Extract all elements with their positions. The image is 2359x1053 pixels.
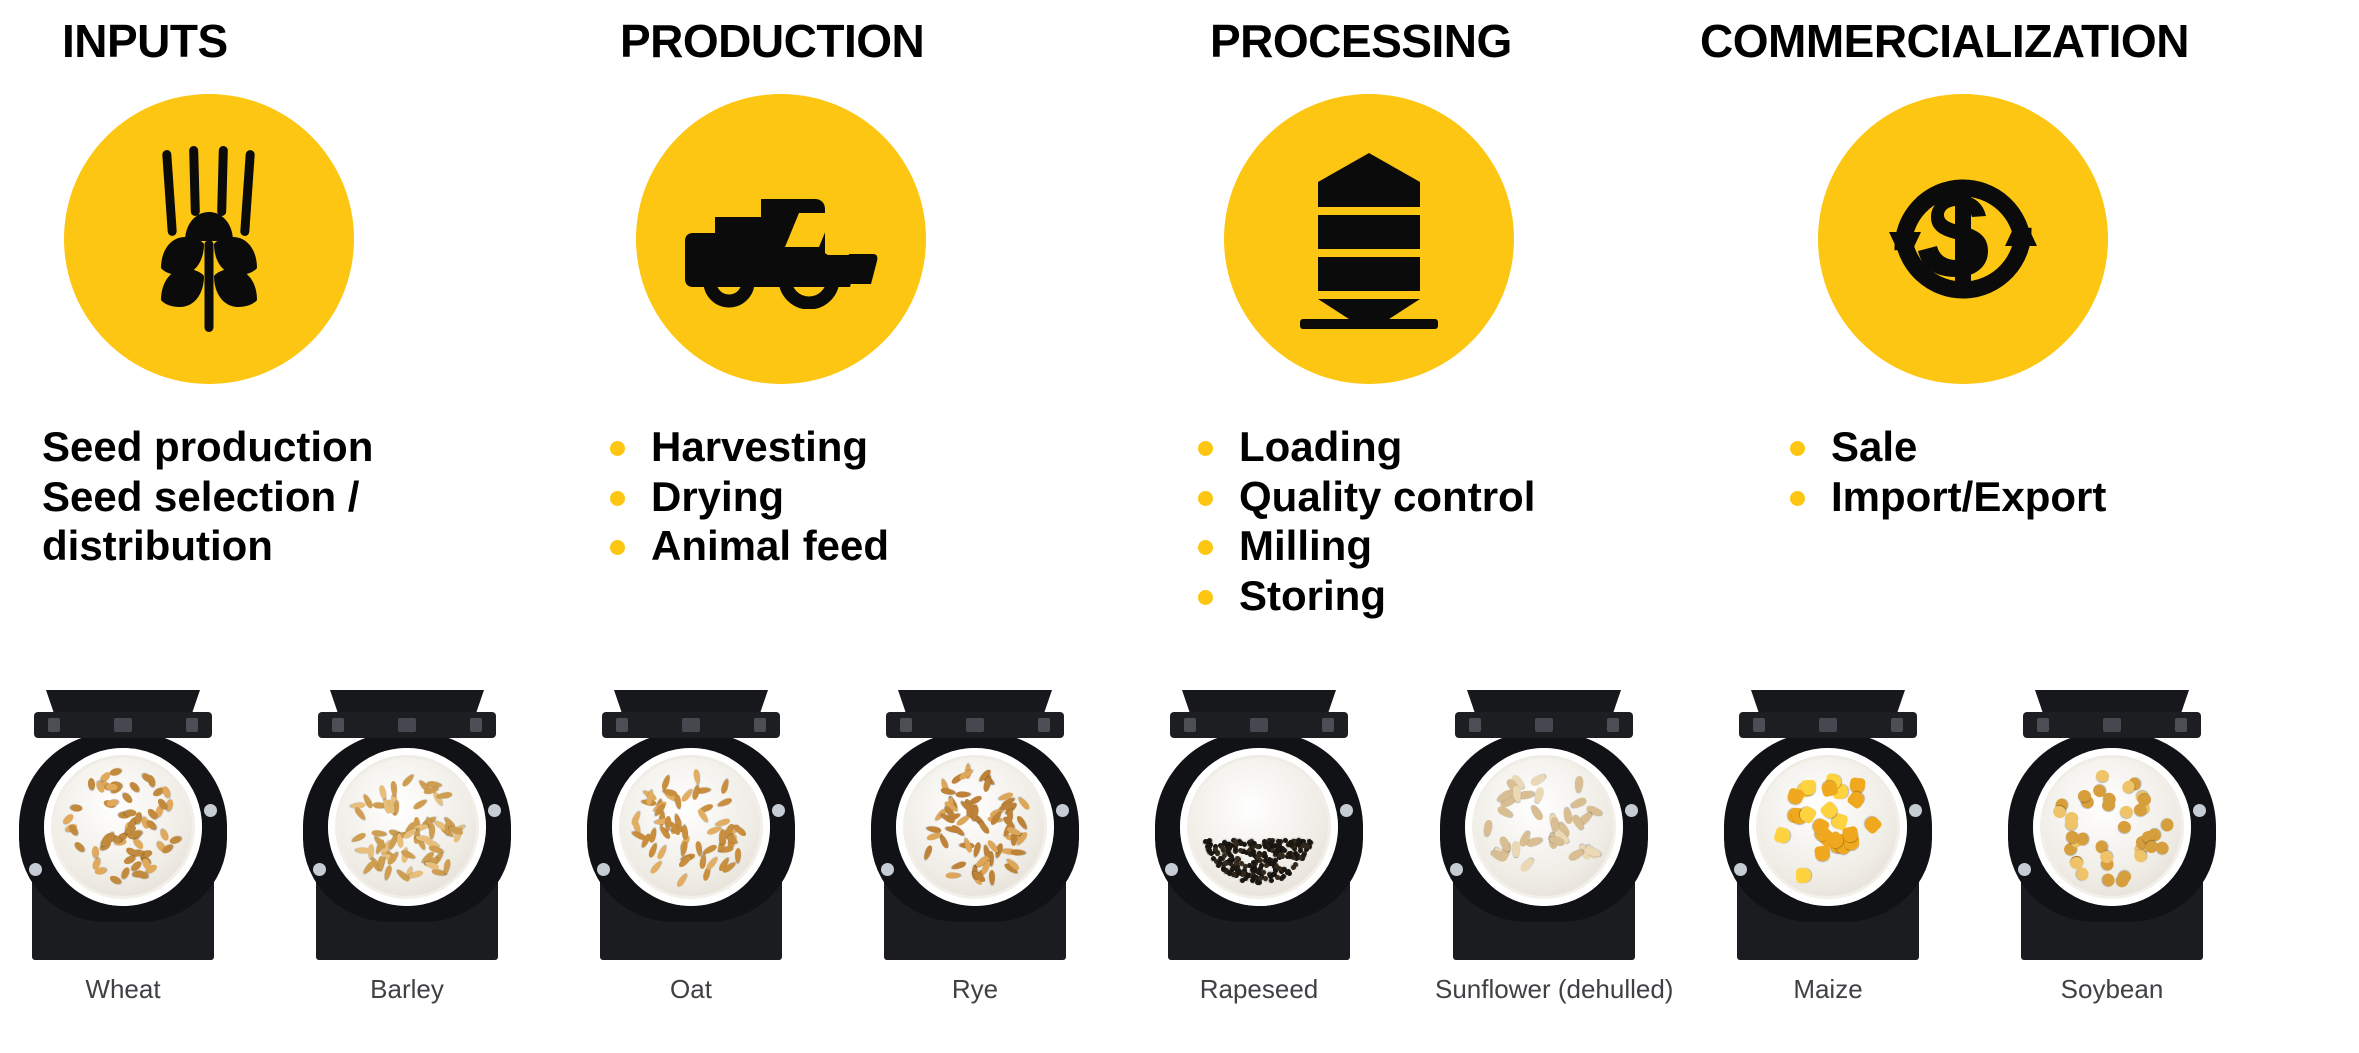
stage-icon-circle bbox=[636, 94, 926, 384]
grain-kernel bbox=[1281, 866, 1287, 872]
dollar-cycle-icon bbox=[1873, 154, 2053, 324]
infographic-page: INPUTS Seed productionSeed selection /di… bbox=[0, 0, 2359, 1053]
list-item-label: Sale bbox=[1831, 422, 1917, 472]
device-hinge bbox=[2023, 712, 2201, 738]
screw bbox=[2193, 804, 2206, 817]
screw bbox=[1165, 863, 1178, 876]
sample-label: Soybean bbox=[2003, 976, 2221, 1002]
sample-label: Sunflower (dehulled) bbox=[1435, 976, 1653, 1002]
grain-analyzer-device bbox=[866, 690, 1084, 960]
stage-bullet-list: HarvestingDryingAnimal feed bbox=[610, 422, 926, 571]
sample-dish bbox=[896, 748, 1054, 906]
sample-label: Rapeseed bbox=[1150, 976, 1368, 1002]
bullet-dot-icon bbox=[1198, 540, 1213, 555]
list-item-label: Quality control bbox=[1239, 472, 1535, 522]
list-item: Storing bbox=[1198, 571, 1535, 621]
list-item-label: Loading bbox=[1239, 422, 1402, 472]
grain-sample-soybean: Soybean bbox=[2003, 690, 2221, 1002]
stage-bullet-list: LoadingQuality controlMillingStoring bbox=[1198, 422, 1535, 620]
list-item: Import/Export bbox=[1790, 472, 2189, 522]
grain-kernel bbox=[91, 845, 99, 857]
list-item: Drying bbox=[610, 472, 926, 522]
screw bbox=[1056, 804, 1069, 817]
screw bbox=[1909, 804, 1922, 817]
list-item-label: Storing bbox=[1239, 571, 1386, 621]
grain-sample-oat: Oat bbox=[582, 690, 800, 1002]
sample-dish bbox=[44, 748, 202, 906]
sample-dish bbox=[328, 748, 486, 906]
grain-analyzer-device bbox=[1435, 690, 1653, 960]
screw bbox=[881, 863, 894, 876]
combine-harvester-icon bbox=[681, 169, 881, 309]
stage-icon-circle bbox=[1224, 94, 1514, 384]
device-hinge bbox=[318, 712, 496, 738]
grain-analyzer-device bbox=[1150, 690, 1368, 960]
device-hinge bbox=[886, 712, 1064, 738]
stage-title: PRODUCTION bbox=[620, 0, 926, 64]
grain-kernel bbox=[2077, 789, 2091, 802]
sample-dish bbox=[1180, 748, 1338, 906]
list-item-label: Animal feed bbox=[651, 521, 889, 571]
grain-kernel bbox=[1233, 860, 1238, 865]
grain-silo-icon bbox=[1294, 149, 1444, 329]
grain-kernel bbox=[1263, 844, 1268, 849]
stage-title: INPUTS bbox=[62, 0, 373, 64]
sample-dish bbox=[1465, 748, 1623, 906]
grain-sample-wheat: Wheat bbox=[14, 690, 232, 1002]
grain-kernel bbox=[1217, 859, 1222, 864]
sample-dish bbox=[2033, 748, 2191, 906]
sample-label: Rye bbox=[866, 976, 1084, 1002]
stage-column-commercialization: COMMERCIALIZATION SaleImport/Export bbox=[1790, 0, 2189, 521]
list-item-label: Seed production bbox=[42, 423, 373, 470]
screw bbox=[1625, 804, 1638, 817]
list-item: Seed production bbox=[42, 422, 373, 472]
screw bbox=[597, 863, 610, 876]
sample-dish bbox=[612, 748, 770, 906]
screw bbox=[488, 804, 501, 817]
list-item-label: Milling bbox=[1239, 521, 1372, 571]
grain-sample-rye: Rye bbox=[866, 690, 1084, 1002]
bullet-dot-icon bbox=[610, 441, 625, 456]
grain-kernel bbox=[1274, 864, 1279, 869]
bullet-dot-icon bbox=[1198, 441, 1213, 456]
stage-bullet-list: Seed productionSeed selection /distribut… bbox=[42, 422, 373, 571]
screw bbox=[1340, 804, 1353, 817]
grain-analyzer-device bbox=[1719, 690, 1937, 960]
list-item-label: Harvesting bbox=[651, 422, 868, 472]
stage-icon-circle bbox=[64, 94, 354, 384]
stage-bullet-list: SaleImport/Export bbox=[1790, 422, 2189, 521]
grain-analyzer-device bbox=[14, 690, 232, 960]
stage-column-inputs: INPUTS Seed productionSeed selection /di… bbox=[42, 0, 373, 571]
list-item: Animal feed bbox=[610, 521, 926, 571]
screw bbox=[2018, 863, 2031, 876]
screw bbox=[29, 863, 42, 876]
bullet-dot-icon bbox=[610, 491, 625, 506]
grain-analyzer-device bbox=[582, 690, 800, 960]
grain-sample-barley: Barley bbox=[298, 690, 516, 1002]
grain-sample-rapeseed: Rapeseed bbox=[1150, 690, 1368, 1002]
device-hinge bbox=[602, 712, 780, 738]
list-item: Seed selection / bbox=[42, 472, 373, 522]
stage-column-production: PRODUCTION HarvestingDryingAnimal feed bbox=[610, 0, 926, 571]
bullet-dot-icon bbox=[1198, 590, 1213, 605]
device-hinge bbox=[1739, 712, 1917, 738]
list-item: Quality control bbox=[1198, 472, 1535, 522]
list-item-label: Import/Export bbox=[1831, 472, 2106, 522]
screw bbox=[313, 863, 326, 876]
device-hinge bbox=[34, 712, 212, 738]
sample-dish bbox=[1749, 748, 1907, 906]
bullet-dot-icon bbox=[1790, 491, 1805, 506]
list-item: Sale bbox=[1790, 422, 2189, 472]
stage-title: PROCESSING bbox=[1210, 0, 1535, 64]
stage-icon-circle bbox=[1818, 94, 2108, 384]
sample-label: Oat bbox=[582, 976, 800, 1002]
wheat-stalk-icon bbox=[134, 144, 284, 334]
list-item: Loading bbox=[1198, 422, 1535, 472]
list-item: Milling bbox=[1198, 521, 1535, 571]
list-item: distribution bbox=[42, 521, 373, 571]
sample-label: Maize bbox=[1719, 976, 1937, 1002]
device-hinge bbox=[1170, 712, 1348, 738]
bullet-dot-icon bbox=[610, 540, 625, 555]
screw bbox=[1734, 863, 1747, 876]
grain-sample-strip: WheatBarleyOatRyeRapeseedSunflower (dehu… bbox=[0, 690, 2359, 1053]
screw bbox=[772, 804, 785, 817]
grain-kernel bbox=[681, 825, 688, 840]
list-item-label: Seed selection / bbox=[42, 473, 359, 520]
list-item-label: Drying bbox=[651, 472, 784, 522]
sample-label: Barley bbox=[298, 976, 516, 1002]
grain-analyzer-device bbox=[298, 690, 516, 960]
grain-sample-sunflower-dehulled: Sunflower (dehulled) bbox=[1435, 690, 1653, 1002]
screw bbox=[204, 804, 217, 817]
bullet-dot-icon bbox=[1198, 491, 1213, 506]
stage-columns: INPUTS Seed productionSeed selection /di… bbox=[0, 0, 2359, 690]
grain-analyzer-device bbox=[2003, 690, 2221, 960]
screw bbox=[1450, 863, 1463, 876]
bullet-dot-icon bbox=[1790, 441, 1805, 456]
grain-kernel bbox=[945, 872, 960, 878]
stage-column-processing: PROCESSING LoadingQuality controlMilling… bbox=[1198, 0, 1535, 620]
stage-title: COMMERCIALIZATION bbox=[1700, 0, 2189, 64]
sample-label: Wheat bbox=[14, 976, 232, 1002]
grain-sample-maize: Maize bbox=[1719, 690, 1937, 1002]
list-item: Harvesting bbox=[610, 422, 926, 472]
device-hinge bbox=[1455, 712, 1633, 738]
list-item-label: distribution bbox=[42, 522, 273, 569]
